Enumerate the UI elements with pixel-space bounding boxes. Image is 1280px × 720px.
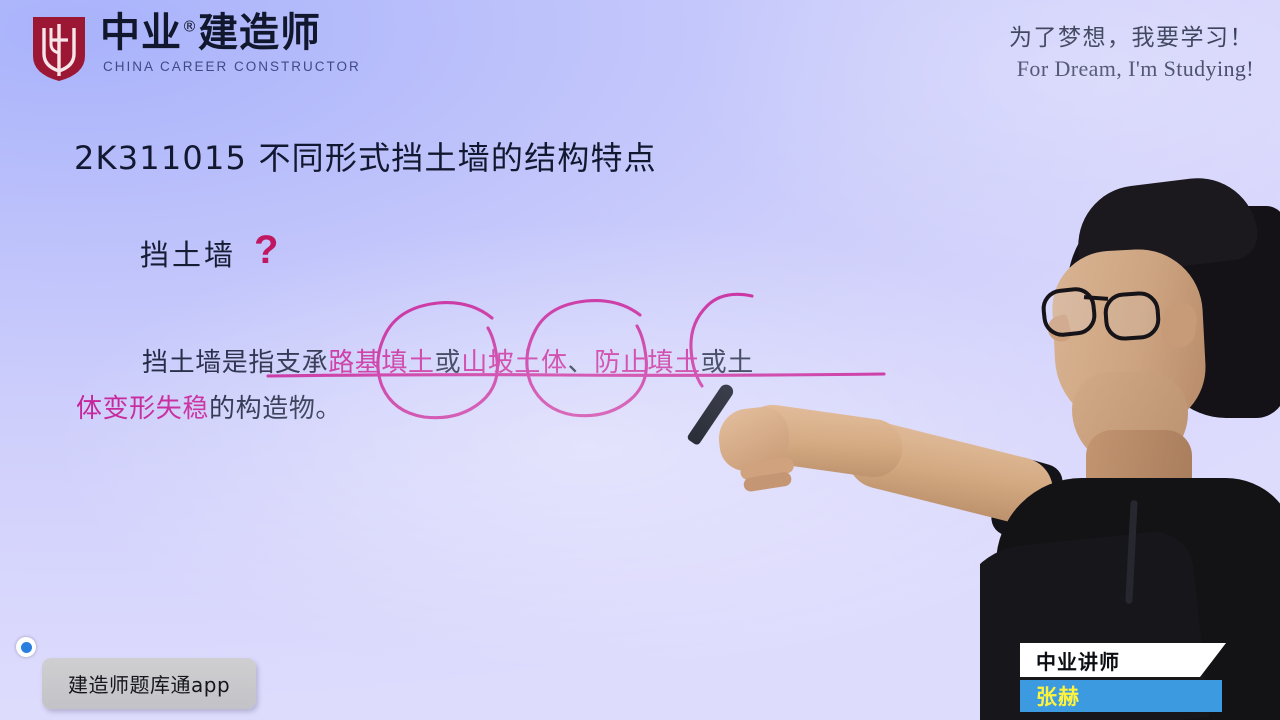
subheading-text: 挡土墙	[140, 232, 236, 274]
lecture-video-frame: 中业®建造师 CHINA CAREER CONSTRUCTOR 为了梦想，我要学…	[0, 0, 1280, 720]
nameplate-role-text: 中业讲师	[1020, 646, 1120, 675]
shield-logo-icon	[30, 14, 88, 84]
para-plain-e: 的构造物。	[209, 394, 342, 424]
nameplate-name-bar: 张赫	[1020, 680, 1222, 712]
brand-logo: 中业®建造师 CHINA CAREER CONSTRUCTOR	[30, 10, 361, 84]
slide-title: 2K311015 不同形式挡土墙的结构特点	[74, 133, 657, 179]
brand-name-en: CHINA CAREER CONSTRUCTOR	[103, 59, 361, 74]
instructor-figure	[980, 0, 1280, 720]
slide-subheading: 挡土墙 ?	[140, 232, 278, 274]
para-plain-d: 或土	[701, 348, 754, 378]
para-plain-c: 、	[568, 348, 595, 378]
nameplate-role-bar: 中业讲师	[1020, 643, 1200, 677]
brand-name-part1: 中业	[100, 10, 182, 56]
registered-mark-icon: ®	[182, 18, 198, 36]
para-highlight-c: 防止填土	[594, 348, 700, 378]
hand	[716, 405, 792, 474]
para-highlight-a: 路基填土	[328, 348, 434, 378]
paragraph-line-1: 挡土墙是指支承路基填土或山坡土体、防止填土或土	[142, 340, 936, 386]
question-mark-icon: ?	[254, 232, 278, 268]
para-plain-a: 挡土墙是指支承	[142, 348, 328, 378]
para-highlight-b: 山坡土体	[461, 348, 567, 378]
nameplate-name-text: 张赫	[1020, 681, 1080, 711]
para-highlight-d: 体变形失稳	[76, 394, 209, 424]
instructor-nameplate: 中业讲师 张赫	[1020, 643, 1280, 720]
glasses-right-lens-icon	[1102, 290, 1161, 342]
para-plain-b: 或	[435, 348, 462, 378]
record-dot-icon	[16, 637, 36, 657]
brand-logo-text: 中业®建造师 CHINA CAREER CONSTRUCTOR	[100, 10, 361, 74]
brand-name-cn: 中业®建造师	[100, 10, 361, 56]
app-watermark-badge[interactable]: 建造师题库通app	[42, 658, 256, 709]
brand-name-part2: 建造师	[198, 10, 321, 56]
